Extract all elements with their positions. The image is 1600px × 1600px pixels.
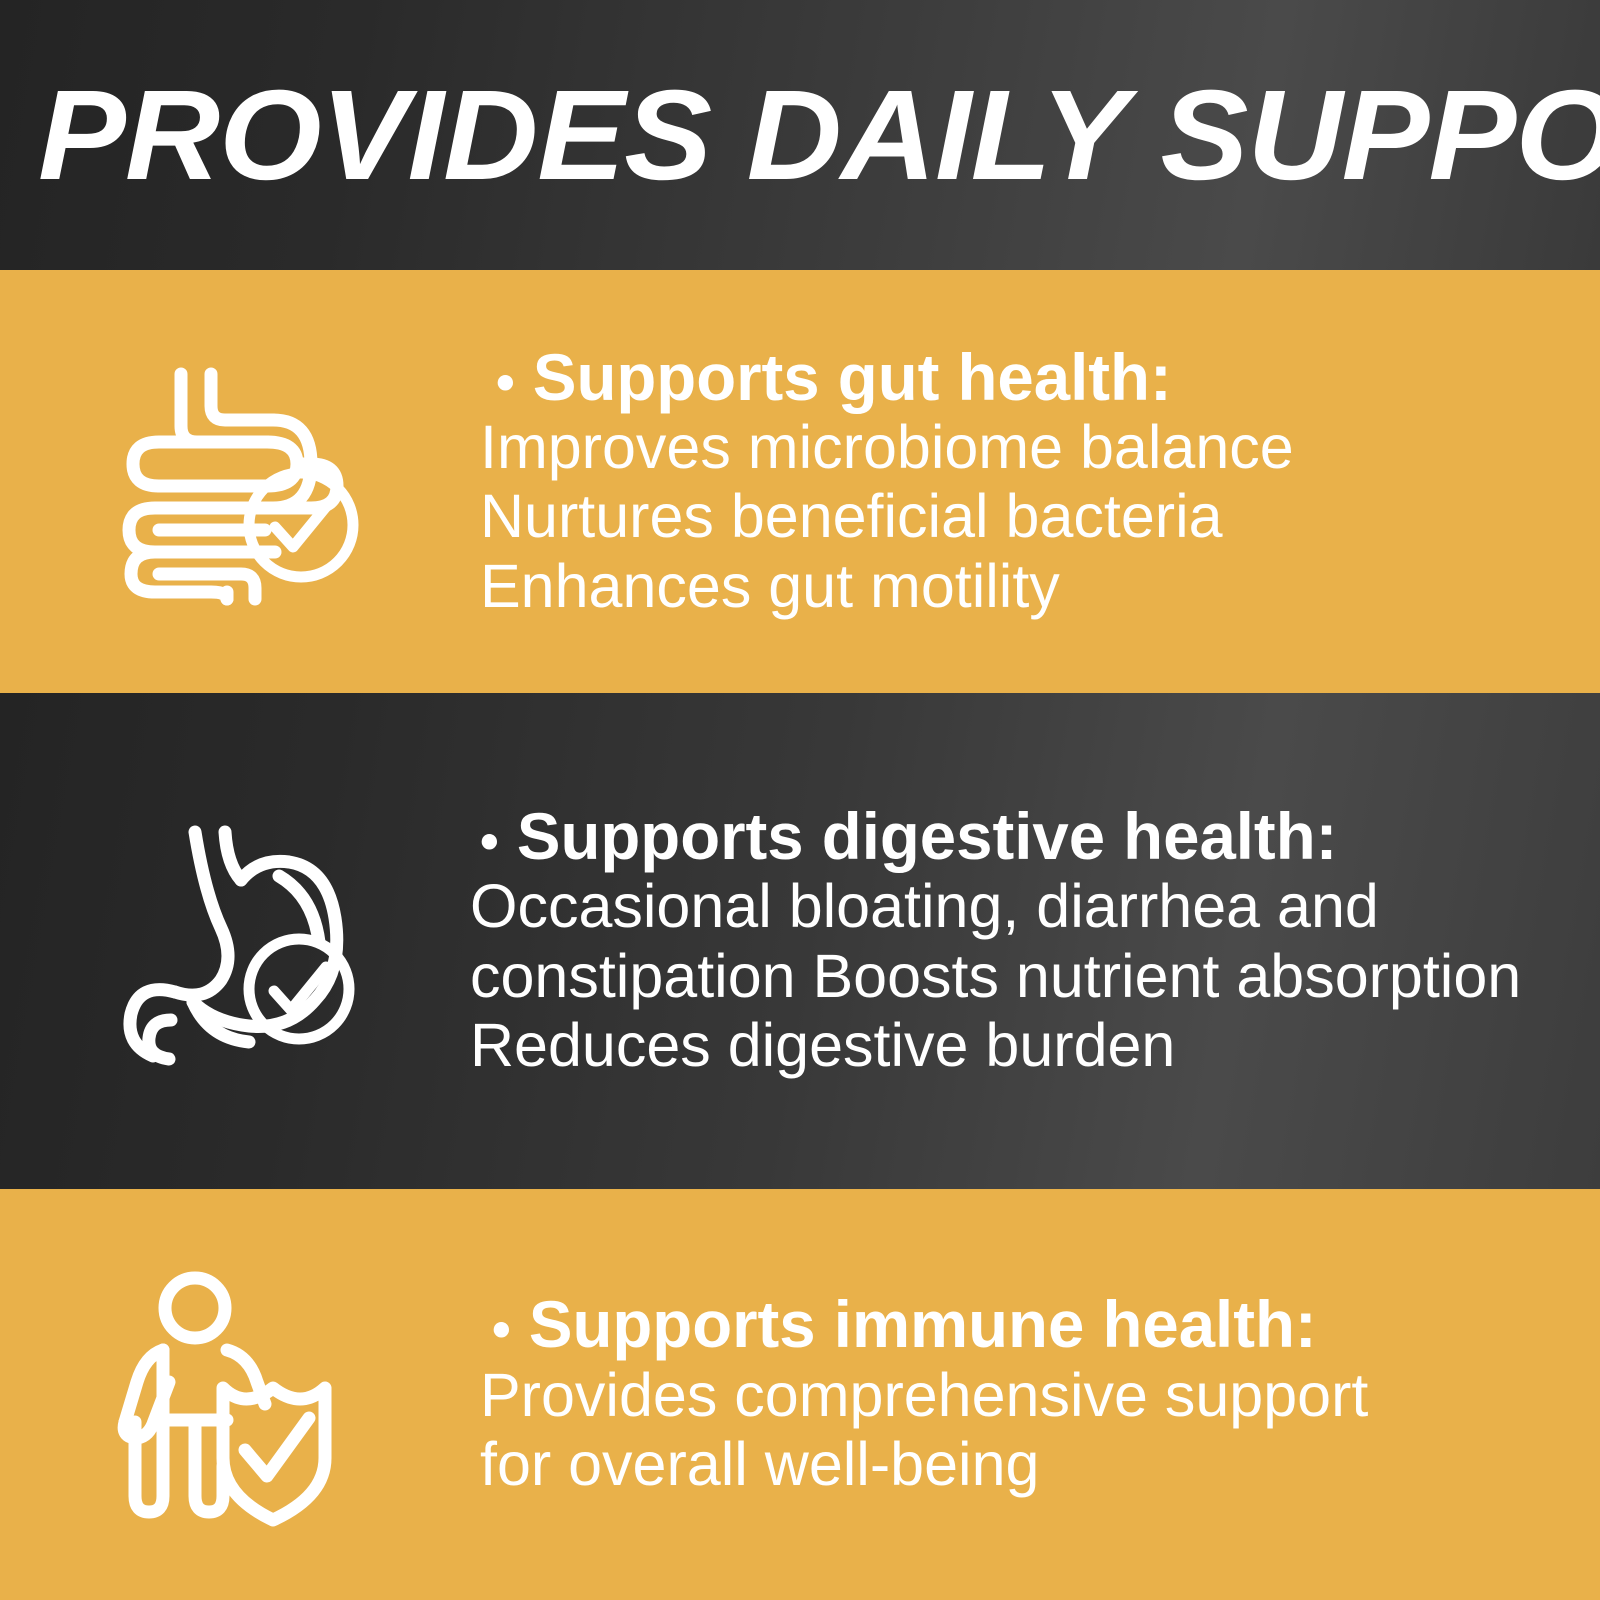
benefit-section-digestive-health: • Supports digestive health: Occasional …: [0, 693, 1600, 1189]
benefit-line-immune-2: for overall well-being: [480, 1430, 1580, 1500]
benefit-line-immune-1: Provides comprehensive support: [480, 1361, 1580, 1431]
benefit-line-gut-2: Nurtures beneficial bacteria: [480, 482, 1580, 552]
icon-container-gut: [0, 364, 480, 599]
person-shield-check-icon: [115, 1270, 365, 1520]
icon-container-immune: [0, 1270, 480, 1520]
page-title: PROVIDES DAILY SUPPORT: [38, 72, 1600, 200]
text-container-immune: • Supports immune health: Provides compr…: [480, 1289, 1600, 1499]
benefit-line-digestive-1: Occasional bloating, diarrhea and: [470, 872, 1580, 942]
benefit-lead-immune: • Supports immune health:: [492, 1289, 1569, 1360]
benefit-section-immune-health: • Supports immune health: Provides compr…: [0, 1189, 1600, 1600]
benefit-lead-label-immune: Supports immune health:: [529, 1287, 1317, 1361]
text-container-gut: • Supports gut health: Improves microbio…: [480, 342, 1600, 622]
benefit-lead-label-digestive: Supports digestive health:: [517, 799, 1337, 873]
header-banner: PROVIDES DAILY SUPPORT: [0, 0, 1600, 270]
icon-container-stomach: [0, 824, 470, 1059]
checkmark-circle-icon-stomach: [237, 927, 361, 1051]
benefit-line-gut-1: Improves microbiome balance: [480, 413, 1580, 483]
benefit-line-gut-3: Enhances gut motility: [480, 552, 1580, 622]
bullet-dot-digestive: •: [480, 811, 499, 871]
benefit-lead-digestive: • Supports digestive health:: [480, 801, 1569, 872]
text-container-digestive: • Supports digestive health: Occasional …: [470, 801, 1600, 1081]
benefit-lead-label-gut: Supports gut health:: [533, 340, 1172, 414]
benefit-line-digestive-3: Reduces digestive burden: [470, 1011, 1580, 1081]
bullet-dot-immune: •: [492, 1300, 511, 1360]
benefit-lead-gut: • Supports gut health:: [496, 342, 1569, 413]
benefit-section-gut-health: • Supports gut health: Improves microbio…: [0, 270, 1600, 693]
bullet-dot-gut: •: [496, 352, 515, 412]
infographic-page: PROVIDES DAILY SUPPORT: [0, 0, 1600, 1600]
checkmark-circle-icon-gut: [237, 461, 365, 589]
benefit-line-digestive-2: constipation Boosts nutrient absorption: [470, 942, 1580, 1012]
